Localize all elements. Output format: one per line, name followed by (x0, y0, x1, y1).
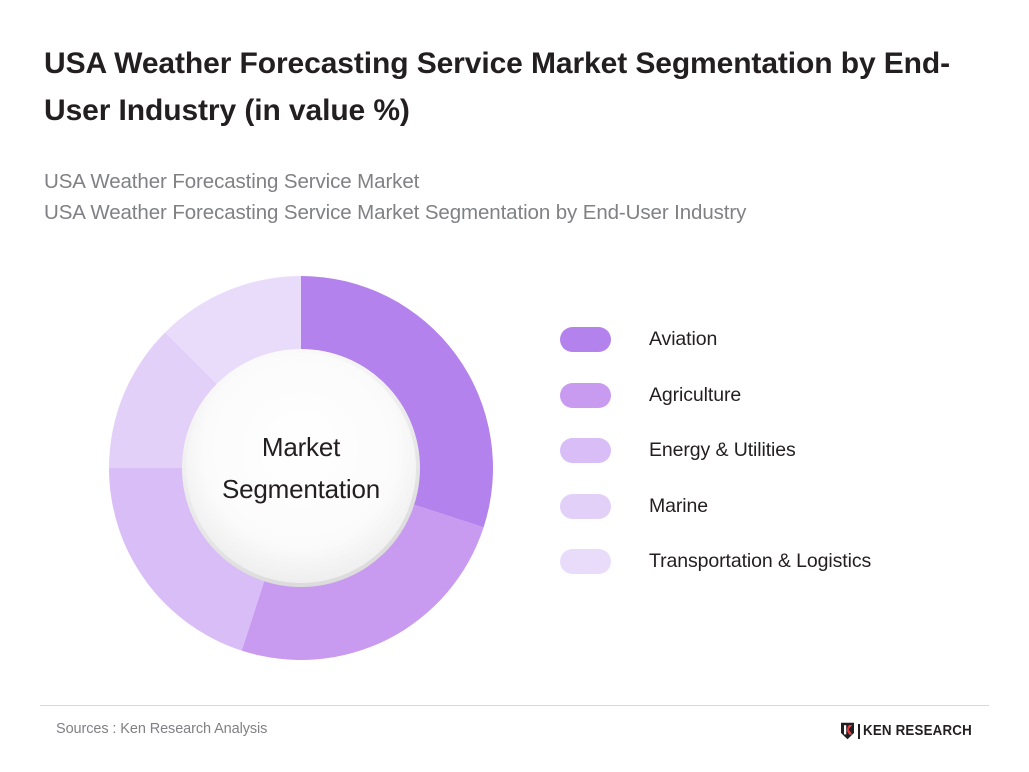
subtitle-line-2: USA Weather Forecasting Service Market S… (44, 197, 994, 228)
donut-chart-svg (105, 272, 497, 664)
brand-divider (858, 724, 860, 739)
page-title: USA Weather Forecasting Service Market S… (44, 40, 994, 135)
chart-page: USA Weather Forecasting Service Market S… (0, 0, 1029, 772)
legend-label: Agriculture (649, 384, 741, 407)
title-block: USA Weather Forecasting Service Market S… (44, 40, 994, 135)
donut-hole (186, 353, 416, 583)
legend-item[interactable]: Marine (560, 479, 980, 535)
subtitle-line-1: USA Weather Forecasting Service Market (44, 166, 994, 197)
legend-swatch-icon (560, 494, 611, 519)
subtitle-block: USA Weather Forecasting Service Market U… (44, 166, 994, 228)
legend-swatch-icon (560, 383, 611, 408)
brand-name: KEN RESEARCH (863, 723, 972, 739)
ken-research-logo-icon (840, 722, 855, 740)
donut-chart: Market Segmentation (105, 272, 497, 664)
sources-text: Sources : Ken Research Analysis (56, 721, 267, 737)
legend-swatch-icon (560, 438, 611, 463)
legend-label: Aviation (649, 328, 717, 351)
legend-swatch-icon (560, 549, 611, 574)
legend-label: Transportation & Logistics (649, 550, 871, 573)
legend-label: Marine (649, 495, 708, 518)
legend-label: Energy & Utilities (649, 439, 796, 462)
legend-swatch-icon (560, 327, 611, 352)
legend-item[interactable]: Aviation (560, 312, 980, 368)
legend-item[interactable]: Energy & Utilities (560, 423, 980, 479)
brand-logo: KEN RESEARCH (840, 722, 981, 740)
chart-legend: AviationAgricultureEnergy & UtilitiesMar… (560, 312, 980, 590)
legend-item[interactable]: Agriculture (560, 368, 980, 424)
footer-divider (40, 705, 989, 706)
legend-item[interactable]: Transportation & Logistics (560, 534, 980, 590)
